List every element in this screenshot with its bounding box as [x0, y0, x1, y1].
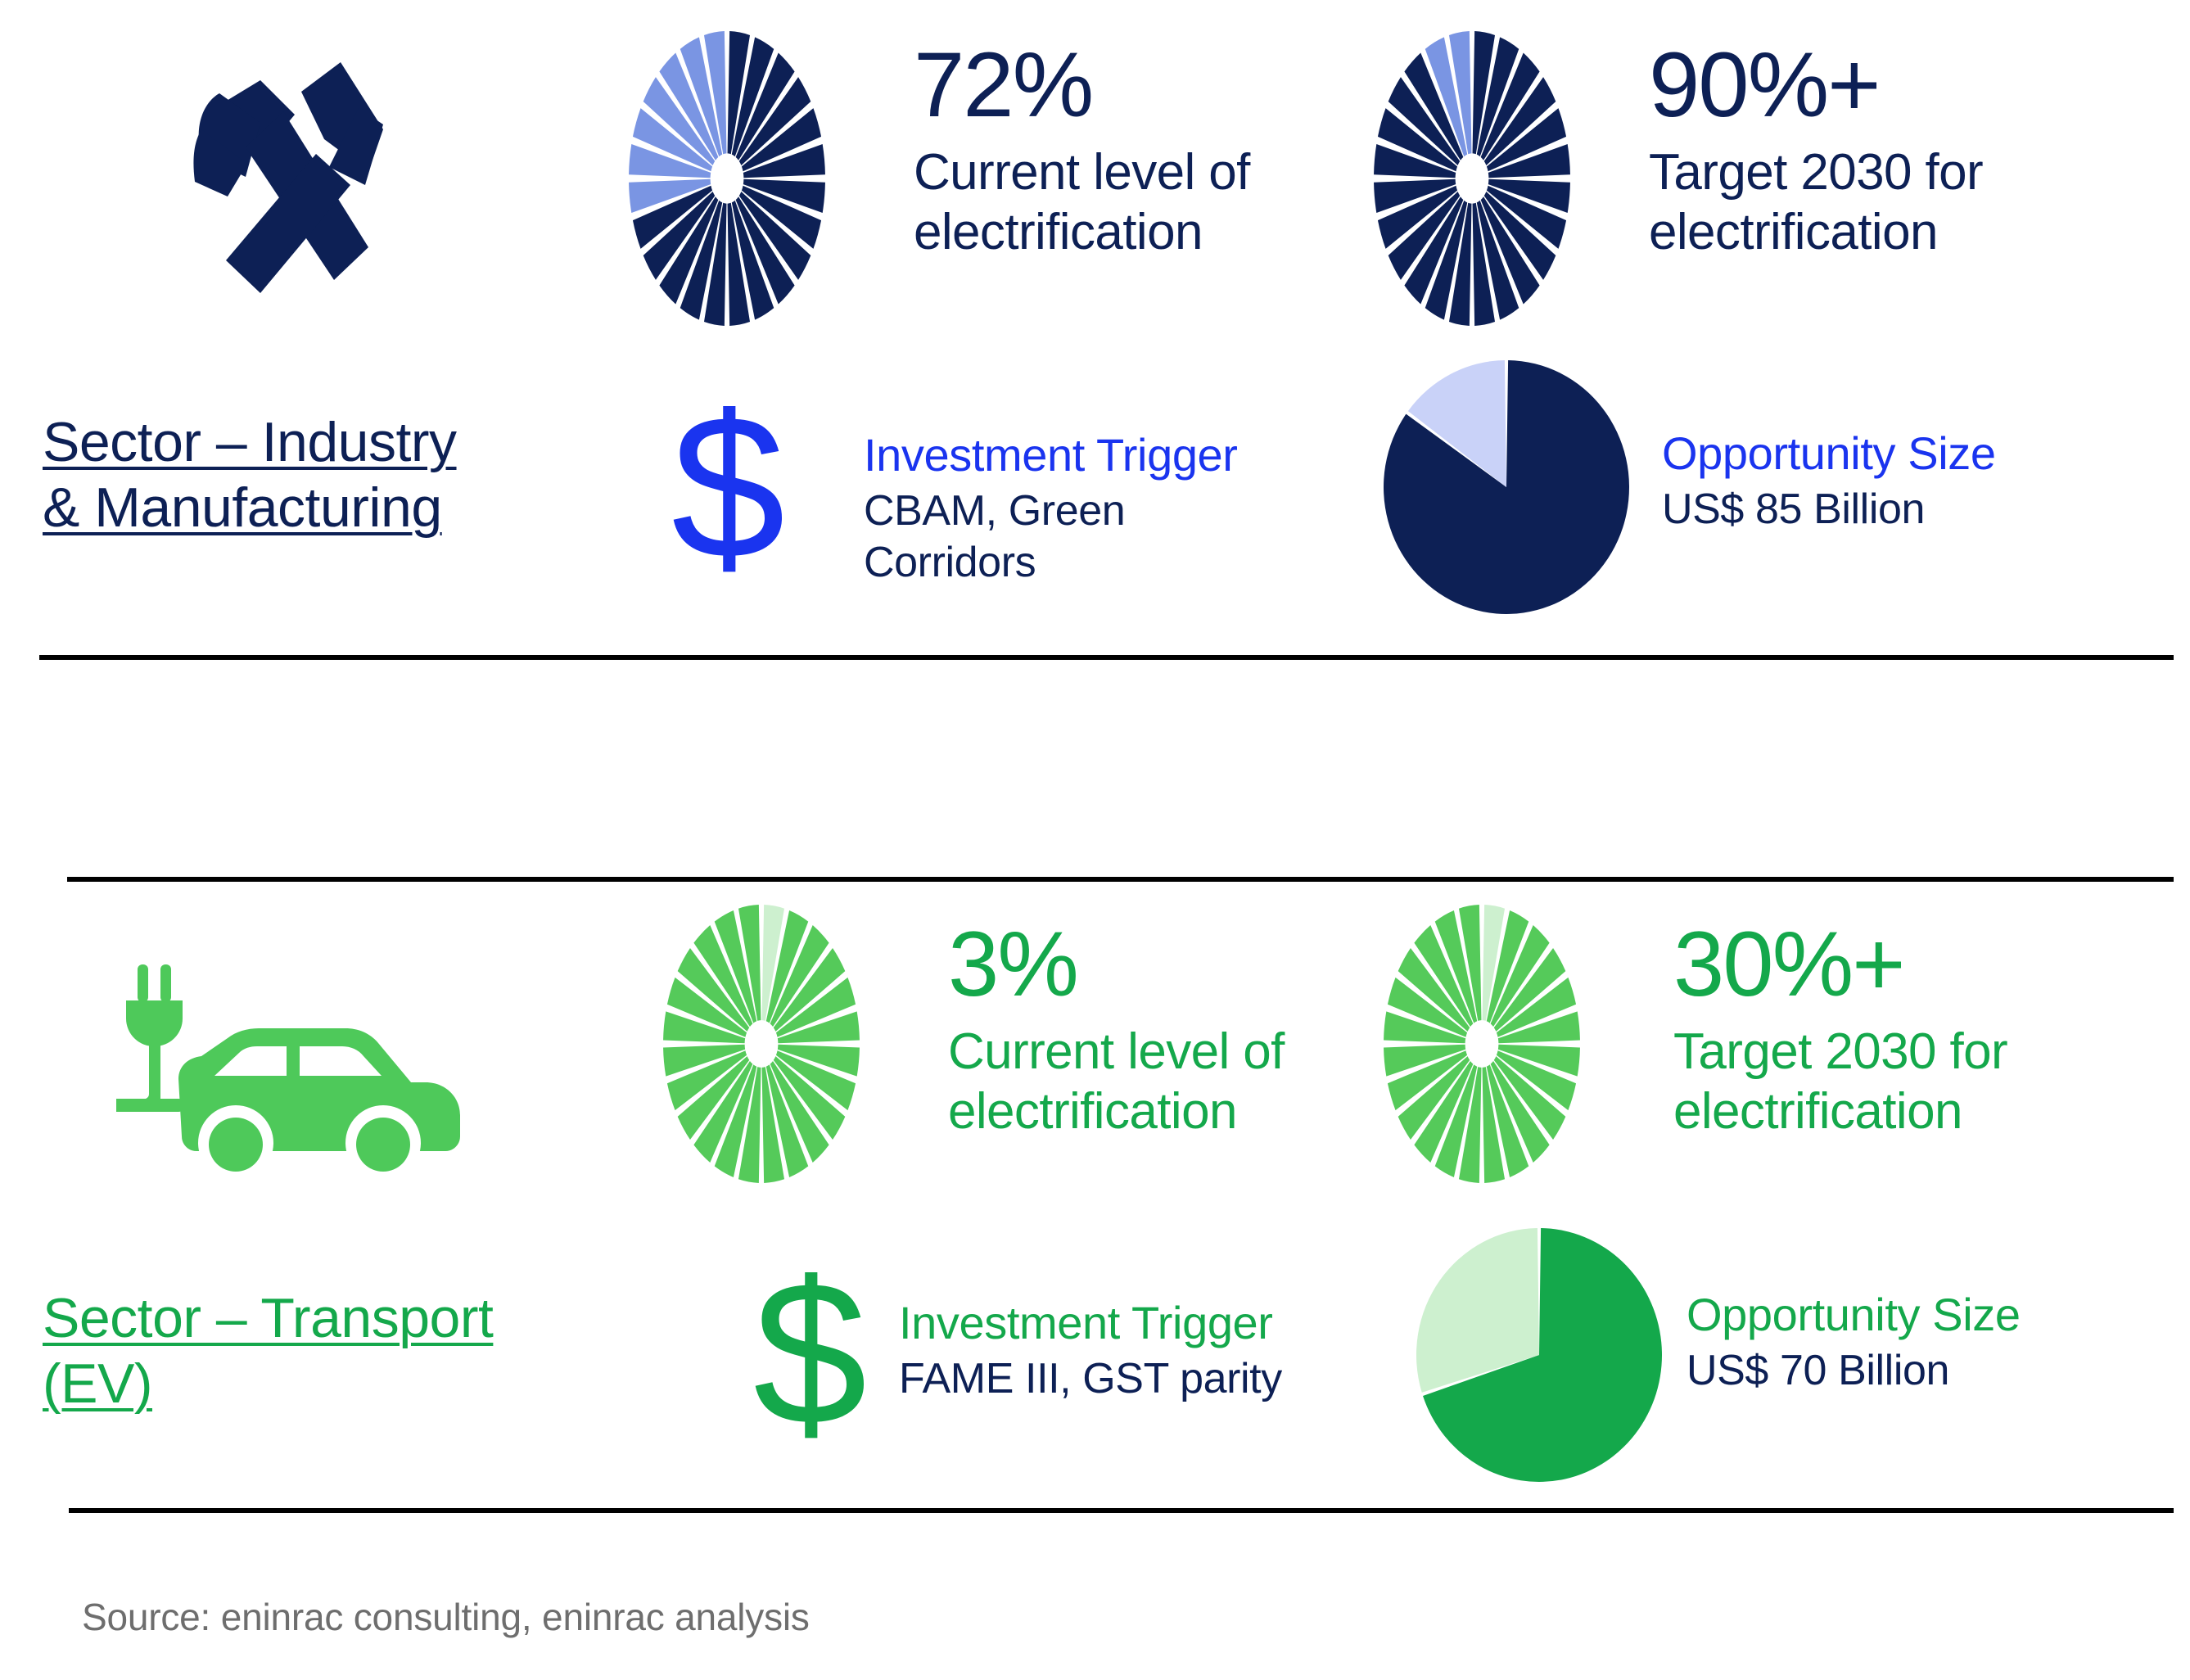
- investment-trigger-industry: Investment Trigger CBAM, Green Corridors: [864, 427, 1371, 588]
- investment-trigger-heading: Investment Trigger: [864, 427, 1371, 482]
- opportunity-size-body: US$ 70 Billion: [1687, 1345, 2190, 1396]
- hammer-and-axe-icon: [123, 33, 434, 327]
- sector-label-transport: Sector – Transport (EV): [43, 1285, 616, 1416]
- stat-value: 90%+: [1649, 39, 2107, 131]
- divider-rule-top: [39, 655, 2174, 660]
- opportunity-size-body: US$ 85 Billion: [1662, 484, 2186, 535]
- dollar-sign-icon-transport: $: [753, 1251, 867, 1456]
- stat-value: 72%: [914, 39, 1339, 131]
- source-note: Source: eninrac consulting, eninrac anal…: [82, 1595, 810, 1639]
- stat-caption: Current level of electrification: [948, 1022, 1390, 1141]
- divider-rule-middle: [67, 877, 2174, 882]
- opportunity-size-heading: Opportunity Size: [1662, 426, 2186, 481]
- opportunity-size-transport: Opportunity Size US$ 70 Billion: [1687, 1287, 2190, 1397]
- electric-car-icon: [90, 958, 475, 1179]
- chart-transport-current-electrification: [663, 905, 860, 1183]
- dollar-sign-icon-industry: $: [671, 385, 785, 589]
- stat-transport-current: 3% Current level of electrification: [948, 919, 1390, 1141]
- opportunity-size-heading: Opportunity Size: [1687, 1287, 2190, 1342]
- chart-transport-opportunity-size: [1416, 1228, 1662, 1482]
- chart-industry-current-electrification: [629, 31, 825, 326]
- stat-value: 3%: [948, 919, 1390, 1010]
- chart-transport-target-2030: [1384, 905, 1580, 1183]
- stat-caption: Target 2030 for electrification: [1673, 1022, 2132, 1141]
- investment-trigger-body: CBAM, Green Corridors: [864, 485, 1371, 588]
- stat-caption: Current level of electrification: [914, 142, 1339, 262]
- stat-transport-target: 30%+ Target 2030 for electrification: [1673, 919, 2132, 1141]
- opportunity-size-industry: Opportunity Size US$ 85 Billion: [1662, 426, 2186, 535]
- sector-label-industry: Sector – Industry & Manufacturing: [43, 409, 550, 540]
- divider-rule-bottom: [69, 1508, 2174, 1513]
- stat-industry-target: 90%+ Target 2030 for electrification: [1649, 39, 2107, 262]
- chart-industry-opportunity-size: [1384, 360, 1629, 614]
- chart-industry-target-2030: [1374, 31, 1570, 326]
- stat-value: 30%+: [1673, 919, 2132, 1010]
- stat-caption: Target 2030 for electrification: [1649, 142, 2107, 262]
- stat-industry-current: 72% Current level of electrification: [914, 39, 1339, 262]
